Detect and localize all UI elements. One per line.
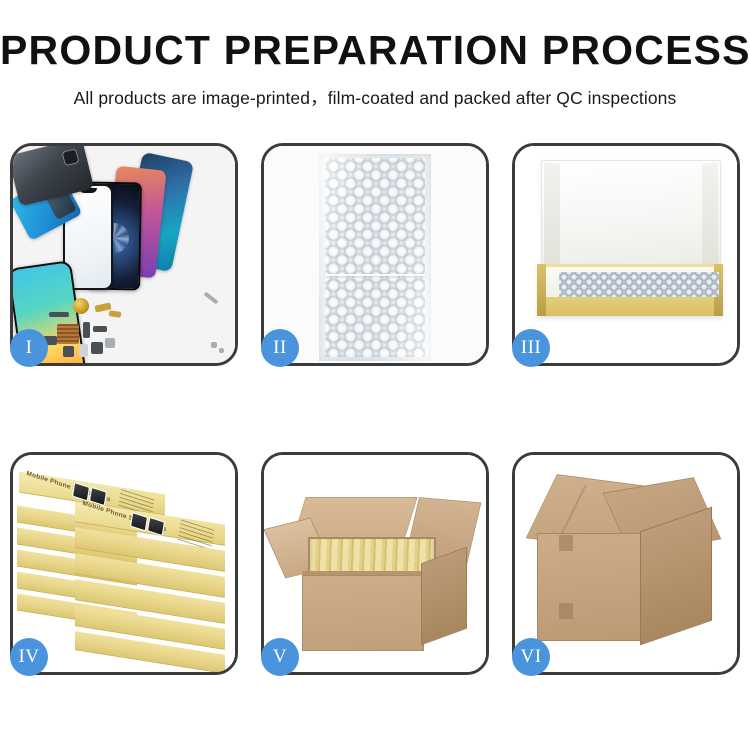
sealed-carton-illustration: [515, 455, 737, 672]
phones-and-parts-illustration: [13, 146, 235, 363]
step-image-6: [515, 455, 737, 672]
step-badge-2: II: [261, 329, 299, 367]
part-bracket-icon: [105, 338, 115, 348]
part-tweezer-icon: [203, 291, 218, 304]
step-panel-1: I: [10, 143, 238, 366]
part-screw-small-icon: [219, 348, 224, 353]
box-edge-left: [537, 264, 546, 316]
step-badge-6: VI: [512, 638, 550, 676]
step-panel-5: V: [261, 452, 489, 675]
step-panel-4: Mobile Phone Spare Parts Mobile Phone Sp…: [10, 452, 238, 675]
carton-side-face: [421, 547, 467, 646]
process-steps-grid: I II: [10, 143, 740, 675]
box-inner-lining: [546, 267, 714, 297]
carton-front-face: [537, 533, 643, 641]
part-coil-icon: [73, 298, 89, 314]
inner-box-illustration: [515, 146, 737, 363]
step-image-3: [515, 146, 737, 363]
box-screen-image: [147, 517, 165, 536]
stacked-boxes-illustration: Mobile Phone Spare Parts Mobile Phone Sp…: [13, 455, 235, 672]
box-base: [537, 264, 723, 316]
step-badge-3: III: [512, 329, 550, 367]
step-image-1: [13, 146, 235, 363]
box-screen-image: [130, 512, 148, 531]
part-button-icon: [79, 344, 88, 357]
page-subtitle: All products are image-printed，film-coat…: [0, 85, 750, 110]
step-badge-1: I: [10, 329, 48, 367]
box-screen-image: [72, 482, 90, 501]
step-panel-6: VI: [512, 452, 740, 675]
step-badge-5: V: [261, 638, 299, 676]
box-lid-flap-left: [544, 162, 560, 268]
carton-tape-lower: [559, 603, 573, 619]
part-connector-grid-icon: [57, 324, 79, 344]
step-image-2: [264, 146, 486, 363]
part-screw-icon: [211, 342, 217, 348]
part-speaker-icon: [63, 346, 74, 357]
carton-tape-upper: [559, 535, 573, 551]
carton-front-face: [302, 575, 424, 651]
part-vibrator-icon: [91, 342, 103, 354]
page-header: PRODUCT PREPARATION PROCESS All products…: [0, 0, 750, 110]
plastic-sheen: [319, 154, 431, 361]
product-preparation-page: PRODUCT PREPARATION PROCESS All products…: [0, 0, 750, 750]
step-panel-3: III: [512, 143, 740, 366]
step-panel-2: II: [261, 143, 489, 366]
step-image-4: Mobile Phone Spare Parts Mobile Phone Sp…: [13, 455, 235, 672]
page-title: PRODUCT PREPARATION PROCESS: [0, 30, 750, 71]
open-carton-illustration: [264, 455, 486, 672]
box-lid-flap-right: [702, 162, 718, 268]
box-lid: [541, 160, 721, 270]
part-chip-icon: [93, 326, 107, 332]
part-strip-icon: [49, 312, 69, 317]
part-flex-cable-icon: [83, 322, 90, 338]
part-gold-bracket-icon: [109, 310, 122, 318]
step-image-5: [264, 455, 486, 672]
carton-side-face: [640, 507, 712, 646]
bubble-wrap-sheet: [319, 154, 431, 361]
wrapped-contents: [559, 272, 719, 297]
step-badge-4: IV: [10, 638, 48, 676]
bubble-wrap-illustration: [264, 146, 486, 363]
